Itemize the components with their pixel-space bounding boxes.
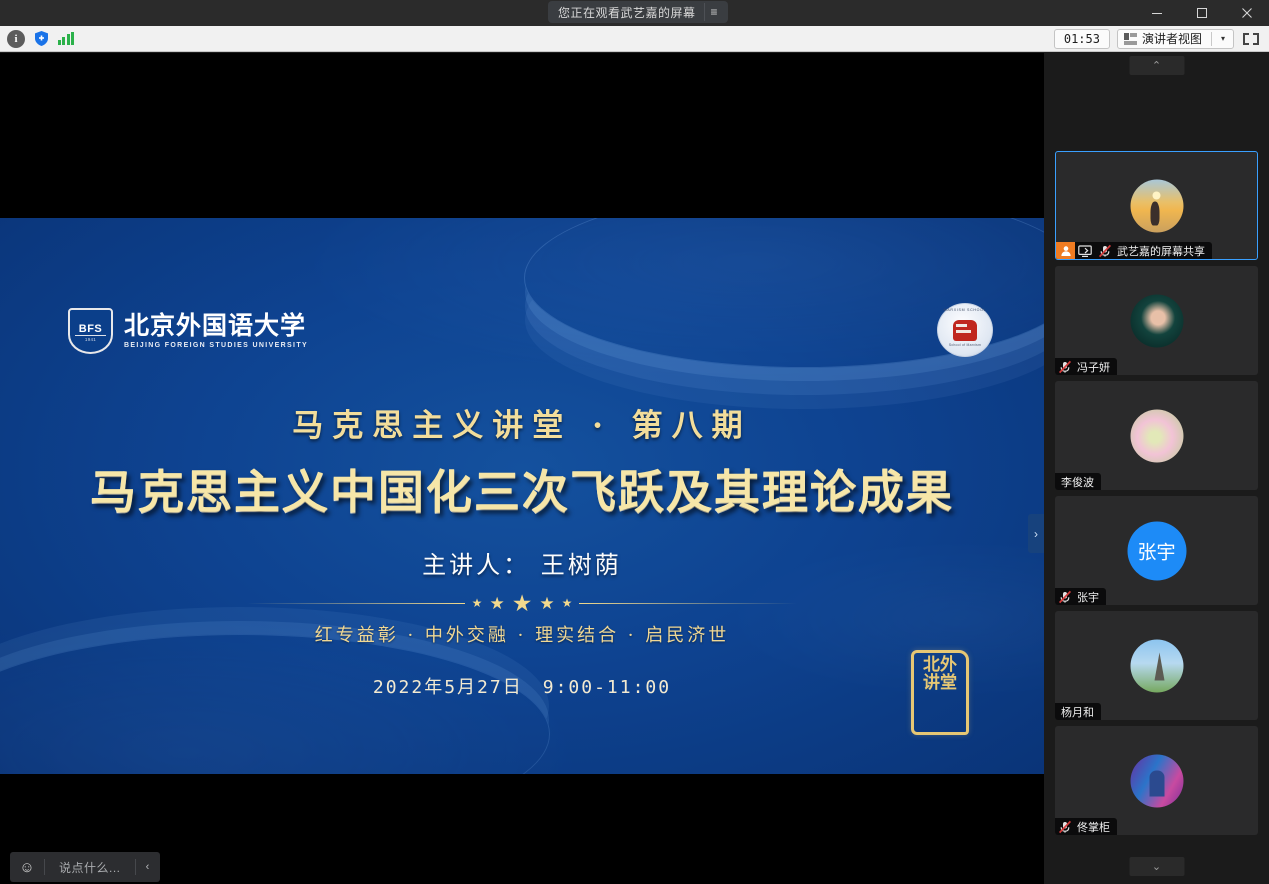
divider (1211, 32, 1212, 46)
info-icon[interactable]: i (7, 30, 25, 48)
star-icon: ★ (539, 595, 554, 612)
view-mode-selector[interactable]: 演讲者视图 ▾ (1117, 29, 1234, 49)
mic-muted-icon (1055, 358, 1075, 375)
avatar: 张宇 (1127, 521, 1186, 580)
slide-main-title: 马克思主义中国化三次飞跃及其理论成果 (0, 456, 1044, 522)
chat-collapse-icon[interactable]: ‹ (136, 852, 160, 882)
participant-name: 张宇 (1075, 589, 1106, 605)
shield-initials: BFS (68, 323, 113, 335)
university-name-cn: 北京外国语大学 (124, 313, 308, 338)
scroll-down-button[interactable]: ⌄ (1129, 857, 1184, 876)
participant-badge: 佟掌柜 (1055, 818, 1117, 835)
window-controls (1134, 0, 1269, 26)
divider-line-left (247, 603, 465, 604)
mic-muted-icon (1055, 818, 1075, 835)
minimize-icon[interactable] (1134, 0, 1179, 26)
fullscreen-icon[interactable] (1241, 30, 1261, 48)
hamburger-icon[interactable]: ≡ (704, 3, 724, 21)
avatar (1130, 754, 1183, 807)
toolbar-right-group: 01:53 演讲者视图 ▾ (1054, 29, 1269, 49)
star-icon: ★ (562, 597, 573, 609)
maximize-icon[interactable] (1179, 0, 1224, 26)
avatar (1130, 294, 1183, 347)
chat-input-bar: ☺ 说点什么... ‹ (10, 852, 160, 882)
scroll-up-button[interactable]: ⌃ (1129, 56, 1184, 75)
window-title-bar: 您正在观看武艺嘉的屏幕 ≡ (0, 0, 1269, 26)
avatar (1130, 179, 1183, 232)
info-glyph: i (14, 33, 17, 45)
star-icon: ★ (472, 597, 483, 609)
divider-line-right (579, 603, 797, 604)
participant-tile[interactable]: 李俊波 (1055, 381, 1258, 490)
slide-series-title: 马克思主义讲堂 · 第八期 (0, 400, 1044, 445)
participant-badge: 张宇 (1055, 588, 1106, 605)
university-logo: BFS 1941 北京外国语大学 BEIJING FOREIGN STUDIES… (68, 308, 308, 354)
bfsu-shield-icon: BFS 1941 (68, 308, 113, 354)
screen-share-icon (1075, 242, 1095, 259)
avatar-initials: 张宇 (1137, 537, 1175, 564)
host-icon (1056, 242, 1075, 259)
emblem-bottom-text: School of Marxism (938, 343, 992, 347)
shield-icon[interactable] (32, 30, 50, 48)
participant-name: 李俊波 (1055, 474, 1101, 490)
lecture-hall-seal: 北外 讲堂 (911, 650, 969, 735)
toolbar-left-group: i (0, 30, 75, 48)
chevron-down-icon[interactable]: ▾ (1217, 34, 1229, 43)
shared-screen-stage: BFS 1941 北京外国语大学 BEIJING FOREIGN STUDIES… (0, 53, 1044, 884)
avatar (1130, 639, 1183, 692)
mic-muted-icon (1095, 242, 1115, 259)
mic-muted-icon (1055, 588, 1075, 605)
participant-name: 杨月和 (1055, 704, 1101, 720)
participant-badge: 武艺嘉的屏幕共享 (1056, 242, 1212, 259)
participant-name: 佟掌柜 (1075, 819, 1117, 835)
marx-figure-icon (953, 320, 977, 341)
star-icon: ★ (512, 592, 533, 615)
slide-speaker-line: 主讲人： 王树荫 (0, 545, 1044, 580)
star-divider: ★ ★ ★ ★ ★ (0, 591, 1044, 615)
participant-badge: 李俊波 (1055, 473, 1101, 490)
layout-grid-icon (1124, 33, 1137, 45)
slide-datetime: 2022年5月27日 9:00-11:00 (0, 673, 1044, 699)
shield-year: 1941 (68, 337, 113, 342)
emblem-top-text: MARXISM SCHOOL (938, 308, 992, 312)
marxism-school-emblem: MARXISM SCHOOL School of Marxism (937, 303, 993, 357)
participant-tile-list: 武艺嘉的屏幕共享冯子妍李俊波张宇张宇杨月和佟掌柜 (1044, 151, 1269, 841)
participant-badge: 冯子妍 (1055, 358, 1117, 375)
participant-tile[interactable]: 张宇张宇 (1055, 496, 1258, 605)
chat-input[interactable]: 说点什么... (45, 859, 135, 876)
meeting-timer: 01:53 (1054, 29, 1110, 49)
screen-share-notice-text: 您正在观看武艺嘉的屏幕 (558, 4, 696, 21)
participant-name: 武艺嘉的屏幕共享 (1115, 243, 1212, 259)
star-icon: ★ (489, 595, 504, 612)
signal-bars-glyph (58, 32, 75, 45)
participant-tile[interactable]: 冯子妍 (1055, 266, 1258, 375)
meeting-toolbar: i 01:53 演讲者视图 ▾ (0, 26, 1269, 52)
participant-name: 冯子妍 (1075, 359, 1117, 375)
screen-share-notice: 您正在观看武艺嘉的屏幕 ≡ (548, 1, 728, 23)
emoji-smiley-icon[interactable]: ☺ (10, 852, 44, 882)
slide-motto: 红专益彰 · 中外交融 · 理实结合 · 启民济世 (0, 621, 1044, 647)
avatar (1130, 409, 1183, 462)
university-name-block: 北京外国语大学 BEIJING FOREIGN STUDIES UNIVERSI… (124, 313, 308, 349)
close-icon[interactable] (1224, 0, 1269, 26)
panel-expand-toggle[interactable]: › (1028, 514, 1044, 553)
participant-badge: 杨月和 (1055, 703, 1101, 720)
university-name-en: BEIJING FOREIGN STUDIES UNIVERSITY (124, 342, 308, 349)
seal-line-2: 讲堂 (917, 675, 963, 693)
participants-panel: ⌃ 武艺嘉的屏幕共享冯子妍李俊波张宇张宇杨月和佟掌柜 ⌄ (1044, 53, 1269, 884)
participant-tile[interactable]: 武艺嘉的屏幕共享 (1055, 151, 1258, 260)
participant-tile[interactable]: 佟掌柜 (1055, 726, 1258, 835)
participant-tile[interactable]: 杨月和 (1055, 611, 1258, 720)
view-mode-label: 演讲者视图 (1142, 30, 1202, 47)
signal-bars-icon[interactable] (57, 30, 75, 48)
